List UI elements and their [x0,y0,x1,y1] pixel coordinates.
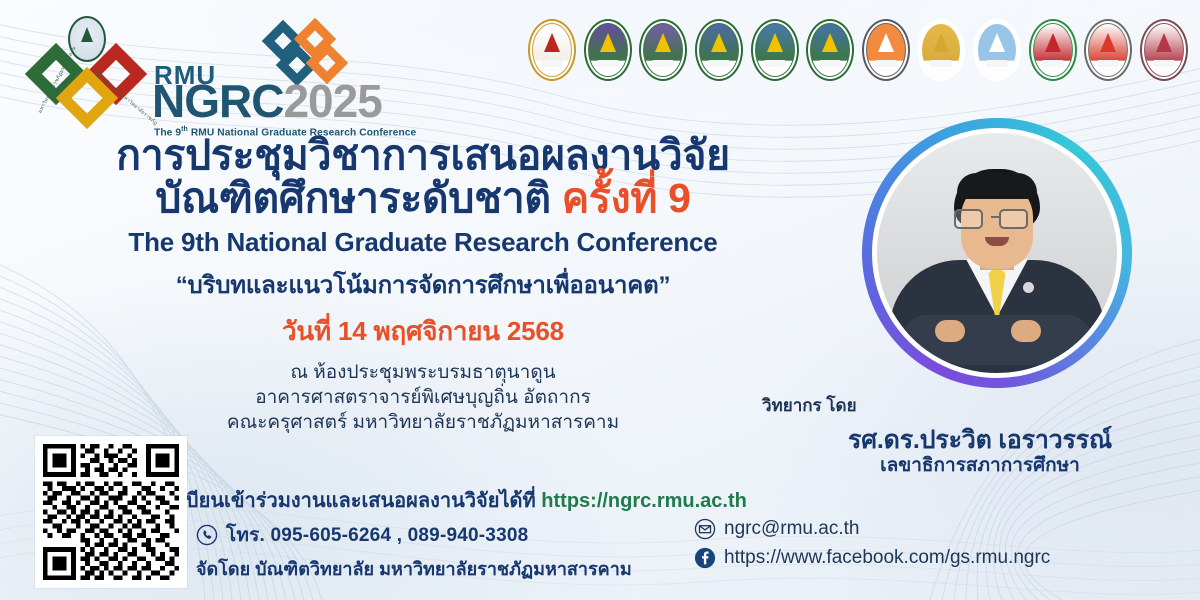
seal-9-base [986,60,1008,67]
title-thai-line-2-main: บัณฑิตศึกษาระดับชาติ [155,175,550,221]
contact-right-block: ngrc@rmu.ac.th https://www.facebook.com/… [694,518,1050,569]
portrait-arms [902,315,1092,365]
title-english: The 9th National Graduate Research Confe… [0,227,846,258]
portrait-glasses-left [954,209,983,229]
seal-8-icon [917,19,965,81]
seal-11-icon [1084,19,1132,81]
phone-number[interactable]: โทร. 095-605-6264 , 089-940-3308 [226,520,528,550]
title-thai-line-2: บัณฑิตศึกษาระดับชาติ ครั้งที่ 9 [0,177,846,220]
seal-3-pagoda-icon [655,33,671,52]
rmu-university-emblem: มหาวิทยาลัยราชภัฏมหาสารคาม บัณฑิตวิทยาลั… [22,14,152,122]
contact-left-block: โทร. 095-605-6264 , 089-940-3308 จัดโดย … [196,520,632,583]
portrait-glasses-right [999,209,1028,229]
conference-banner: มหาวิทยาลัยราชภัฏมหาสารคาม บัณฑิตวิทยาลั… [0,0,1200,600]
email-address[interactable]: ngrc@rmu.ac.th [724,518,859,540]
seal-2-pagoda-icon [600,33,616,52]
ngrc-wordmark-main: NGRC [152,75,283,127]
seal-6-pagoda-icon [822,33,838,52]
seal-7-base [875,60,897,67]
seal-2-base [597,60,619,67]
seal-12-base [1153,60,1175,67]
seal-8-pagoda-icon [933,33,949,52]
seal-12-pagoda-icon [1156,33,1172,52]
registration-url[interactable]: https://ngrc.rmu.ac.th [541,490,747,512]
seal-1-icon [528,19,576,81]
seal-1-base [541,60,563,67]
venue-line-3: คณะครุศาสตร์ มหาวิทยาลัยราชภัฏมหาสารคาม [0,410,846,435]
speaker-photo [877,133,1117,373]
seal-12-icon [1140,19,1188,81]
venue-block: ณ ห้องประชุมพระบรมธาตุนาดูน อาคารศาสตราจ… [0,360,846,436]
facebook-icon [694,547,716,569]
registration-qr-code[interactable] [35,436,187,588]
qr-code-icon [43,444,179,580]
seal-10-pagoda-icon [1045,33,1061,52]
portrait-hand-left [935,320,965,342]
phone-icon [196,524,218,546]
phone-row: โทร. 095-605-6264 , 089-940-3308 [196,520,632,550]
speaker-portrait [862,118,1132,388]
facebook-row: https://www.facebook.com/gs.rmu.ngrc [694,547,1050,569]
seal-4-base [708,60,730,67]
speaker-prefix-label: วิทยากร โดย [762,392,857,419]
seal-5-pagoda-icon [767,33,783,52]
seal-7-pagoda-icon [878,33,894,52]
seal-4-icon [695,19,743,81]
organizer-text: จัดโดย บัณฑิตวิทยาลัย มหาวิทยาลัยราชภัฏม… [196,554,632,583]
seal-8-base [930,60,952,67]
seal-6-base [819,60,841,67]
seal-11-pagoda-icon [1100,33,1116,52]
seal-9-pagoda-icon [989,33,1005,52]
ngrc-logo: RMU NGRC2025 The 9th RMU National Gradua… [150,22,405,128]
seal-1-pagoda-icon [544,33,560,52]
portrait-inner-ring [872,128,1122,378]
seal-4-pagoda-icon [711,33,727,52]
portrait-hand-right [1011,320,1041,342]
event-date: วันที่ 14 พฤศจิกายน 2568 [0,311,846,352]
seal-3-base [652,60,674,67]
partner-university-seals [528,14,1188,86]
email-row: ngrc@rmu.ac.th [694,518,1050,540]
seal-7-icon [862,19,910,81]
seal-10-base [1042,60,1064,67]
seal-2-icon [584,19,632,81]
portrait-fringe [957,173,1037,199]
seal-9-icon [973,19,1021,81]
facebook-url[interactable]: https://www.facebook.com/gs.rmu.ngrc [724,547,1050,569]
ngrc-wordmark-year: 2025 [283,75,381,127]
venue-line-1: ณ ห้องประชุมพระบรมธาตุนาดูน [0,360,846,385]
title-block: การประชุมวิชาการเสนอผลงานวิจัย บัณฑิตศึก… [0,134,846,436]
seal-5-base [764,60,786,67]
seal-6-icon [806,19,854,81]
ngrc-wordmark: NGRC2025 [152,78,382,124]
title-thai-line-1: การประชุมวิชาการเสนอผลงานวิจัย [0,134,846,177]
seal-10-icon [1029,19,1077,81]
conference-theme: “บริบทและแนวโน้มการจัดการศึกษาเพื่ออนาคต… [0,265,846,304]
portrait-glasses-bridge [991,216,1001,218]
envelope-icon [694,518,716,540]
speaker-position: เลขาธิการสภาการศึกษา [780,450,1180,480]
title-edition-number: ครั้งที่ 9 [562,175,691,221]
venue-line-2: อาคารศาสตราจารย์พิเศษบุญถิ่น อัตถากร [0,385,846,410]
registration-label: ลงทะเบียนเข้าร่วมงานและเสนอผลงานวิจัยได้… [133,490,536,512]
seal-11-base [1097,60,1119,67]
seal-5-icon [751,19,799,81]
seal-3-icon [639,19,687,81]
